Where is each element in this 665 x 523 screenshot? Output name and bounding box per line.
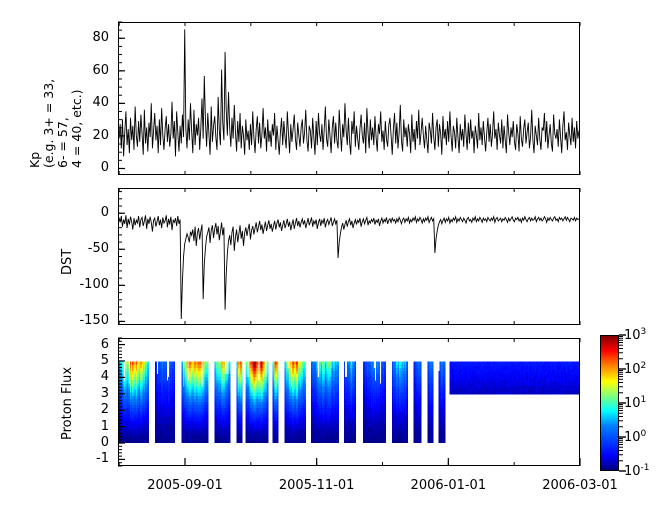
x-axis-tick-label: 2005-11-01 [279, 478, 355, 493]
flux-ytick-label: -1 [0, 452, 109, 465]
dst-axis-title: DST [60, 249, 75, 275]
colorbar-tick-label: 103 [624, 327, 646, 343]
colorbar-tick-label: 10-1 [624, 463, 650, 479]
colorbar-tick-label: 101 [624, 395, 646, 411]
colorbar-tick-label: 100 [624, 429, 646, 445]
figure-canvas: 020406080 Kp (e.g. 3+ = 33, 6- = 57, 4 =… [0, 0, 665, 523]
flux-ytick-label: 5 [0, 354, 109, 367]
flux-ytick-label: 0 [0, 436, 109, 449]
dst-ytick-label: -50 [0, 242, 109, 255]
dst-ytick-label: 0 [0, 206, 109, 219]
panel-proton-flux [118, 338, 580, 466]
dst-ytick-label: -150 [0, 314, 109, 327]
kp-axis-title-line1: Kp [28, 152, 42, 168]
kp-ytick-label: 80 [0, 31, 109, 44]
flux-ytick-label: 4 [0, 370, 109, 383]
x-axis-tick-label: 2005-09-01 [147, 478, 223, 493]
dst-series [119, 189, 579, 324]
panel-dst [118, 188, 580, 325]
dst-ytick-label: -100 [0, 278, 109, 291]
flux-axis-title: Proton Flux [60, 367, 75, 440]
kp-axis-title-line2: (e.g. 3+ = 33, [42, 79, 56, 168]
colorbar [600, 335, 619, 471]
flux-ytick-label: 1 [0, 420, 109, 433]
flux-ytick-label: 2 [0, 403, 109, 416]
proton-flux-spectrogram [119, 339, 579, 465]
kp-series [119, 23, 579, 174]
kp-ytick-label: 60 [0, 64, 109, 77]
flux-ytick-label: 3 [0, 387, 109, 400]
panel-kp [118, 22, 580, 175]
x-axis-tick-label: 2006-03-01 [542, 478, 618, 493]
kp-axis-title-line3: 6- = 57, [56, 117, 70, 168]
kp-axis-title-line4: 4 = 40, etc.) [70, 89, 84, 168]
x-axis-tick-label: 2006-01-01 [411, 478, 487, 493]
flux-ytick-label: 6 [0, 338, 109, 351]
colorbar-tick-label: 102 [624, 361, 646, 377]
